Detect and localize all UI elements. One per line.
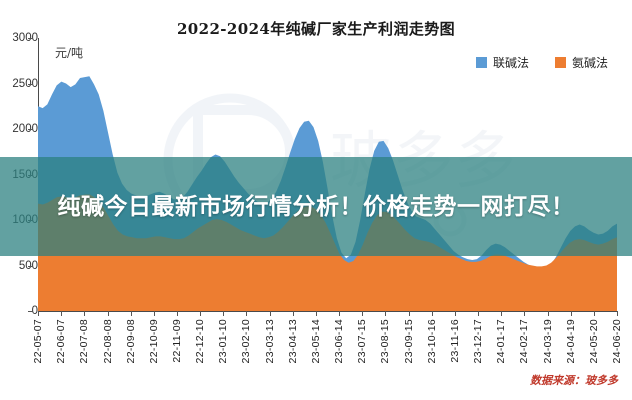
x-tick-mark bbox=[617, 311, 618, 316]
chart-title: 2022-2024年纯碱厂家生产利润走势图 bbox=[0, 18, 632, 39]
x-tick-label: 23-09-15 bbox=[403, 319, 415, 363]
x-tick-label: 24-02-17 bbox=[518, 319, 530, 363]
x-tick-label: 23-03-13 bbox=[264, 319, 276, 363]
x-tick-mark bbox=[432, 311, 433, 316]
headline-text: 纯碱今日最新市场行情分析！价格走势一网打尽！ bbox=[35, 192, 597, 221]
x-tick-mark bbox=[385, 311, 386, 316]
x-tick-label: 23-02-10 bbox=[240, 319, 252, 363]
y-tick-mark bbox=[28, 84, 33, 85]
x-tick-label: 22-09-08 bbox=[125, 319, 137, 363]
x-tick-mark bbox=[571, 311, 572, 316]
y-tick-mark bbox=[28, 38, 33, 39]
x-tick-mark bbox=[524, 311, 525, 316]
x-tick-label: 24-01-17 bbox=[495, 319, 507, 363]
x-tick-label: 24-06-20 bbox=[611, 319, 623, 363]
x-tick-label: 23-01-10 bbox=[217, 319, 229, 363]
y-tick-mark bbox=[28, 129, 33, 130]
x-tick-mark bbox=[362, 311, 363, 316]
x-tick-label: 23-10-16 bbox=[426, 319, 438, 363]
y-tick-mark bbox=[28, 266, 33, 267]
x-tick-label: 23-11-16 bbox=[449, 319, 461, 363]
x-tick-label: 22-11-09 bbox=[171, 319, 183, 363]
x-tick-label: 24-04-19 bbox=[565, 319, 577, 363]
x-tick-mark bbox=[246, 311, 247, 316]
x-tick-label: 23-06-14 bbox=[333, 319, 345, 363]
x-tick-label: 23-05-14 bbox=[310, 319, 322, 363]
x-tick-mark bbox=[38, 311, 39, 316]
x-tick-mark bbox=[594, 311, 595, 316]
x-tick-label: 22-08-08 bbox=[102, 319, 114, 363]
x-tick-mark bbox=[131, 311, 132, 316]
x-tick-label: 22-12-10 bbox=[194, 319, 206, 363]
x-tick-mark bbox=[293, 311, 294, 316]
headline-overlay-band: 纯碱今日最新市场行情分析！价格走势一网打尽！ bbox=[0, 157, 632, 256]
x-tick-mark bbox=[200, 311, 201, 316]
source-note: 数据来源：玻多多 bbox=[530, 372, 618, 388]
x-tick-mark bbox=[84, 311, 85, 316]
x-tick-label: 24-03-19 bbox=[542, 319, 554, 363]
x-tick-mark bbox=[154, 311, 155, 316]
x-tick-label: 23-12-17 bbox=[472, 319, 484, 363]
x-tick-mark bbox=[339, 311, 340, 316]
x-tick-label: 23-04-13 bbox=[287, 319, 299, 363]
x-tick-label: 22-05-07 bbox=[32, 319, 44, 363]
x-tick-mark bbox=[316, 311, 317, 316]
x-tick-label: 22-07-08 bbox=[78, 319, 90, 363]
x-tick-mark bbox=[270, 311, 271, 316]
x-tick-label: 23-08-15 bbox=[379, 319, 391, 363]
x-tick-label: 22-06-07 bbox=[55, 319, 67, 363]
screenshot-root: 玻多多 2022-2024年纯碱厂家生产利润走势图 元/吨 联碱法 氨碱法 05… bbox=[0, 0, 632, 400]
x-tick-mark bbox=[61, 311, 62, 316]
x-tick-label: 24-05-20 bbox=[588, 319, 600, 363]
x-tick-mark bbox=[548, 311, 549, 316]
x-tick-label: 22-10-09 bbox=[148, 319, 160, 363]
x-tick-mark bbox=[478, 311, 479, 316]
x-tick-mark bbox=[455, 311, 456, 316]
x-tick-mark bbox=[409, 311, 410, 316]
x-tick-label: 23-07-15 bbox=[356, 319, 368, 363]
x-tick-mark bbox=[223, 311, 224, 316]
x-tick-mark bbox=[177, 311, 178, 316]
x-tick-mark bbox=[108, 311, 109, 316]
x-tick-mark bbox=[501, 311, 502, 316]
